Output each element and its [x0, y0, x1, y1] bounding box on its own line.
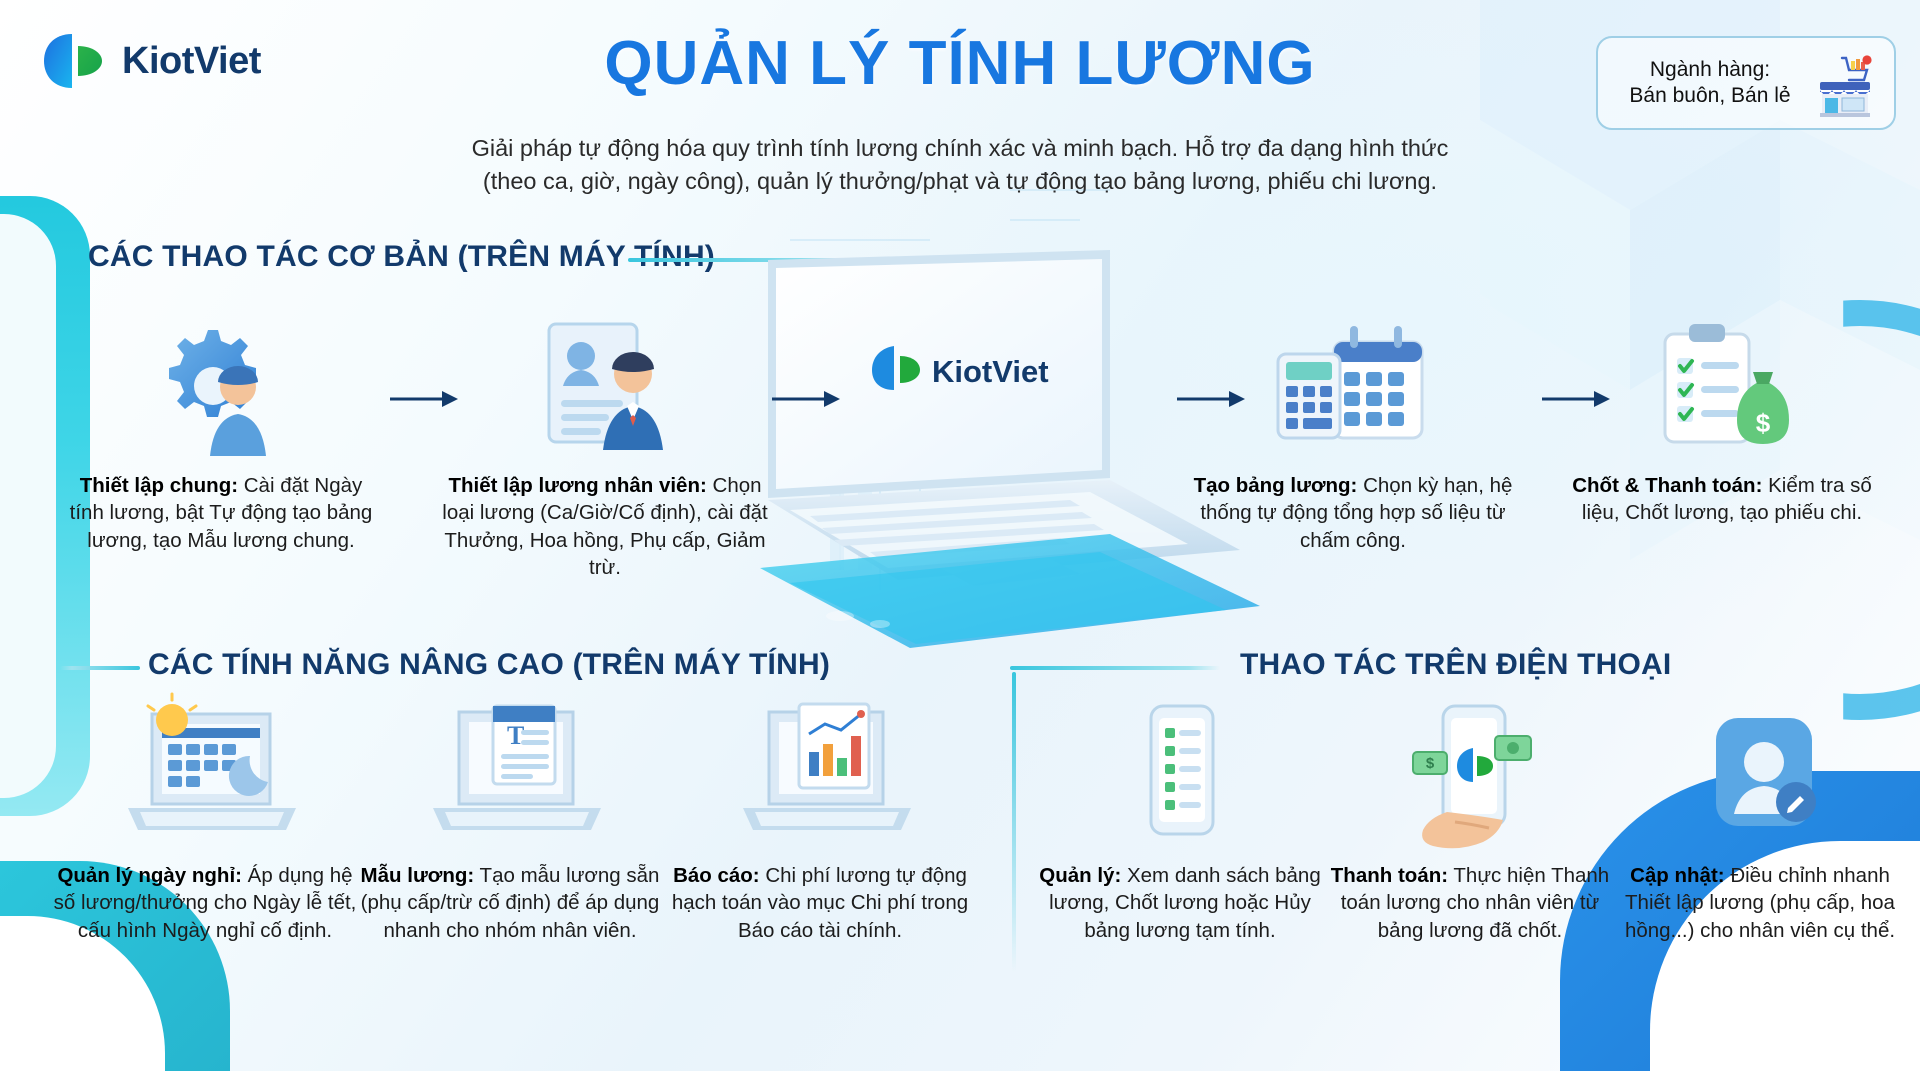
subtitle-line-1: Giải pháp tự động hóa quy trình tính lươ…: [385, 132, 1535, 165]
svg-text:$: $: [1755, 408, 1770, 438]
laptop-holiday-calendar-icon: [50, 700, 360, 850]
basic-step-1-title: Thiết lập chung:: [80, 474, 238, 497]
basic-step-2-title: Thiết lập lương nhân viên:: [448, 474, 706, 497]
basic-step-2: Thiết lập lương nhân viên: Chọn loại lươ…: [440, 310, 770, 581]
basic-step-4: $ Chốt & Thanh toán: Kiểm tra số liệu, C…: [1552, 310, 1892, 527]
industry-badge-text: Ngành hàng: Bán buôn, Bán lẻ: [1620, 57, 1800, 108]
basic-step-4-text: Chốt & Thanh toán: Kiểm tra số liệu, Chố…: [1552, 472, 1892, 527]
storefront-icon: [1808, 46, 1882, 120]
phone-edit-profile-icon: [1610, 700, 1910, 850]
clipboard-money-icon: $: [1552, 310, 1892, 460]
section-heading-basic: CÁC THAO TÁC CƠ BẢN (TRÊN MÁY TÍNH): [88, 240, 715, 274]
basic-step-1: Thiết lập chung: Cài đặt Ngày tính lương…: [60, 310, 382, 554]
advanced-feature-3: Báo cáo: Chi phí lương tự động hạch toán…: [660, 700, 980, 944]
phone-list-icon: [1030, 700, 1330, 850]
mobile-feature-1-text: Quản lý: Xem danh sách bảng lương, Chốt …: [1030, 862, 1330, 944]
basic-step-1-text: Thiết lập chung: Cài đặt Ngày tính lương…: [60, 472, 382, 554]
lower-sections-divider: [1012, 672, 1016, 972]
mobile-feature-3-text: Cập nhật: Điều chỉnh nhanh Thiết lập lươ…: [1610, 862, 1910, 944]
mobile-feature-2-title: Thanh toán:: [1331, 864, 1448, 887]
basic-step-3: Tạo bảng lương: Chọn kỳ hạn, hệ thống tự…: [1188, 310, 1518, 554]
laptop-template-icon: T: [355, 700, 665, 850]
basic-step-2-text: Thiết lập lương nhân viên: Chọn loại lươ…: [440, 472, 770, 581]
advanced-feature-1: Quản lý ngày nghỉ: Áp dụng hệ số lương/t…: [50, 700, 360, 944]
advanced-feature-1-title: Quản lý ngày nghỉ:: [57, 864, 242, 887]
advanced-feature-2-title: Mẫu lương:: [361, 864, 475, 887]
basic-step-3-title: Tạo bảng lương:: [1194, 474, 1358, 497]
advanced-feature-2: T Mẫu lương: Tạo mẫu lương sẵn (phụ cấp/…: [355, 700, 665, 944]
mobile-feature-3: Cập nhật: Điều chỉnh nhanh Thiết lập lươ…: [1610, 700, 1910, 944]
advanced-feature-3-text: Báo cáo: Chi phí lương tự động hạch toán…: [660, 862, 980, 944]
section-rule-advanced: [60, 666, 140, 670]
svg-text:$: $: [1426, 755, 1435, 772]
mobile-feature-1: Quản lý: Xem danh sách bảng lương, Chốt …: [1030, 700, 1330, 944]
section-rule-mobile: [1010, 666, 1220, 670]
page-subtitle: Giải pháp tự động hóa quy trình tính lươ…: [385, 132, 1535, 199]
employee-profile-icon: [440, 310, 770, 460]
section-heading-mobile: THAO TÁC TRÊN ĐIỆN THOẠI: [1240, 648, 1671, 682]
gear-user-icon: [60, 310, 382, 460]
advanced-feature-1-text: Quản lý ngày nghỉ: Áp dụng hệ số lương/t…: [50, 862, 360, 944]
phone-payment-hand-icon: $: [1320, 700, 1620, 850]
infographic-canvas: KiotViet QUẢN LÝ TÍNH LƯƠNG Giải pháp tự…: [0, 0, 1920, 1071]
left-teal-band-inner: [0, 214, 56, 798]
industry-badge-line-1: Ngành hàng:: [1620, 57, 1800, 83]
mobile-feature-1-title: Quản lý:: [1039, 864, 1121, 887]
basic-step-4-title: Chốt & Thanh toán:: [1572, 474, 1762, 497]
laptop-screen-label: KiotViet: [932, 354, 1049, 389]
mobile-feature-2: $ Thanh toán: Thực hiện Thanh toán lương…: [1320, 700, 1620, 944]
subtitle-line-2: (theo ca, giờ, ngày công), quản lý thưởn…: [385, 165, 1535, 198]
advanced-feature-3-title: Báo cáo:: [673, 864, 760, 887]
advanced-feature-2-text: Mẫu lương: Tạo mẫu lương sẵn (phụ cấp/tr…: [355, 862, 665, 944]
calculator-calendar-icon: [1188, 310, 1518, 460]
mobile-feature-3-title: Cập nhật:: [1630, 864, 1725, 887]
mobile-feature-2-text: Thanh toán: Thực hiện Thanh toán lương c…: [1320, 862, 1620, 944]
svg-text:T: T: [507, 721, 524, 750]
basic-step-3-text: Tạo bảng lương: Chọn kỳ hạn, hệ thống tự…: [1188, 472, 1518, 554]
industry-badge-line-2: Bán buôn, Bán lẻ: [1620, 83, 1800, 109]
arrow-right-2-icon: [770, 388, 842, 410]
section-heading-advanced: CÁC TÍNH NĂNG NÂNG CAO (TRÊN MÁY TÍNH): [148, 648, 830, 682]
laptop-report-chart-icon: [660, 700, 980, 850]
industry-badge: Ngành hàng: Bán buôn, Bán lẻ: [1596, 36, 1896, 130]
